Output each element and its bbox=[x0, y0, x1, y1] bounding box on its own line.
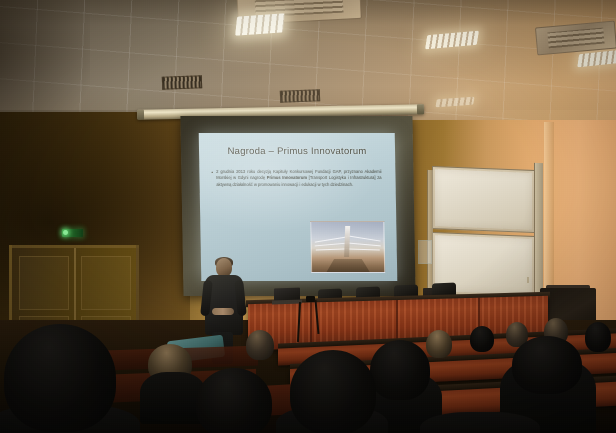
audience-head bbox=[470, 326, 494, 352]
presenter-hands bbox=[212, 308, 234, 315]
bridge-cable-3 bbox=[316, 248, 348, 250]
foreground-audience-head-right bbox=[196, 368, 272, 433]
bridge-cable-4 bbox=[348, 235, 381, 241]
bullet-marker-icon: • bbox=[211, 169, 213, 188]
whiteboard-support-post-left bbox=[427, 170, 433, 298]
audience-head bbox=[246, 330, 274, 360]
audience-head bbox=[512, 336, 582, 394]
slide-title: Nagroda – Primus Innovatorum bbox=[199, 146, 395, 157]
bridge-cable-6 bbox=[348, 248, 380, 250]
bridge-roadway bbox=[326, 259, 369, 272]
wall-mounted-whiteboard-upper[interactable] bbox=[432, 166, 535, 233]
whiteboard-marker-icon[interactable] bbox=[527, 277, 529, 283]
foreground-audience-head-left bbox=[4, 324, 116, 432]
ceiling-ventilation-grille-right bbox=[280, 89, 320, 102]
fluorescent-louvered-light-panel bbox=[235, 13, 285, 36]
roller-end-left bbox=[137, 110, 144, 120]
bridge-cable-5 bbox=[348, 242, 381, 246]
roller-end-right bbox=[417, 104, 424, 114]
door-panel-upper-right bbox=[81, 256, 131, 310]
whiteboard-surface-upper bbox=[435, 169, 532, 230]
foreground-audience-head-center bbox=[290, 350, 376, 433]
lecture-hall-photograph: Nagroda – Primus Innovatorum • 2 grudnia… bbox=[0, 0, 616, 433]
door-panel-upper-left bbox=[19, 256, 69, 310]
bridge-pylon bbox=[344, 226, 350, 257]
audience-head bbox=[585, 322, 611, 352]
bridge-cable-1 bbox=[315, 236, 348, 242]
slide-body-text: 2 grudnia 2013 roku decyzją Kapituły Kon… bbox=[216, 169, 382, 188]
bridge-cable-2 bbox=[315, 243, 348, 247]
slide-body-award-name: Primus Innovatorum bbox=[267, 175, 307, 180]
foreground-audience-shoulders-right bbox=[420, 412, 540, 433]
wall-notice bbox=[418, 240, 432, 264]
exit-sign-icon bbox=[62, 229, 83, 237]
audience-head bbox=[426, 330, 452, 358]
slide-bridge-photograph bbox=[310, 221, 385, 273]
slide-bullet-item: • 2 grudnia 2013 roku decyzją Kapituły K… bbox=[211, 169, 381, 188]
ceiling-ventilation-grille-center bbox=[162, 75, 202, 89]
audience-head bbox=[370, 340, 430, 400]
